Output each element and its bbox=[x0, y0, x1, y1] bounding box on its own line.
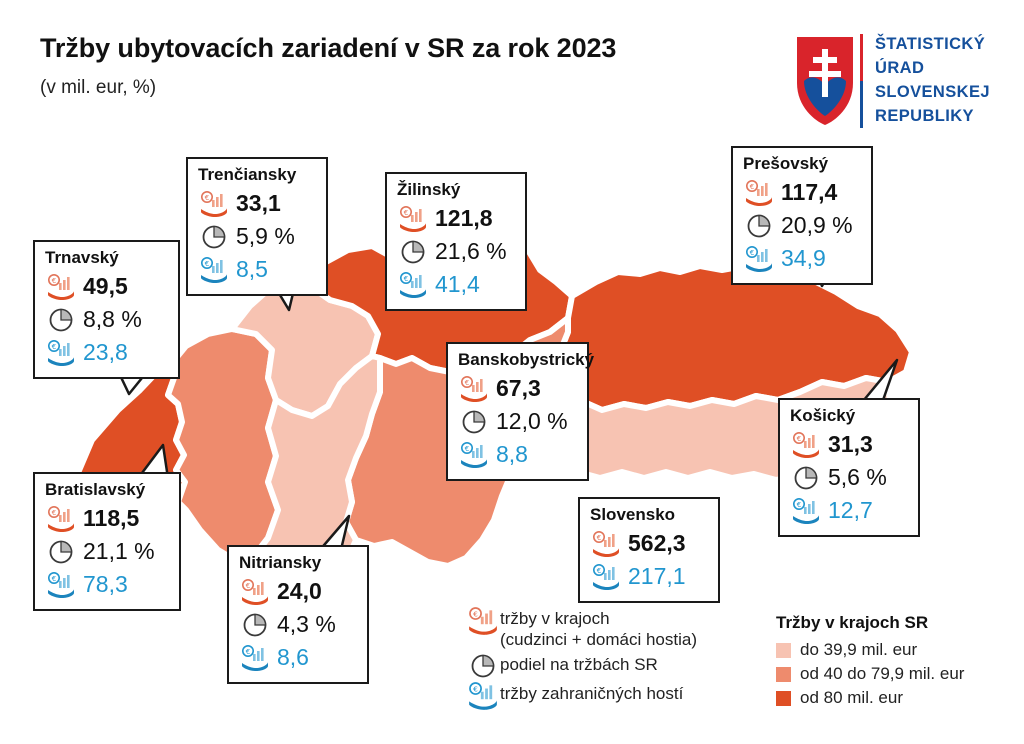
svg-text:€: € bbox=[246, 648, 250, 656]
legend-item-revenue: € tržby v krajoch (cudzinci + domáci hos… bbox=[466, 606, 766, 650]
region-name-kosicky: Košický bbox=[790, 406, 906, 426]
pie-chart-icon bbox=[45, 539, 77, 565]
svg-text:€: € bbox=[597, 534, 601, 542]
region-foreign-bratislavsky: 78,3 bbox=[83, 571, 128, 598]
region-revenue-banskobystricky: 67,3 bbox=[496, 375, 541, 402]
hand-coin-blue-icon: € bbox=[198, 257, 230, 283]
metric-row-share: 5,9 % bbox=[198, 220, 314, 253]
callout-bratislavsky[interactable]: Bratislavský € 118,5 2 bbox=[33, 472, 181, 611]
region-foreign-trenciansky: 8,5 bbox=[236, 256, 268, 283]
hand-coin-blue-icon: € bbox=[458, 442, 490, 468]
metric-row-share: 4,3 % bbox=[239, 608, 355, 641]
hand-coin-blue-icon: € bbox=[590, 564, 622, 590]
region-revenue-kosicky: 31,3 bbox=[828, 431, 873, 458]
legend-label-foreign: tržby zahraničných hostí bbox=[500, 681, 683, 704]
callout-kosicky[interactable]: Košický € 31,3 5,6 % bbox=[778, 398, 920, 537]
region-name-zilinsky: Žilinský bbox=[397, 180, 513, 200]
metric-row-foreign: € 217,1 bbox=[590, 560, 706, 593]
metric-row-foreign: € 41,4 bbox=[397, 268, 513, 301]
legend-item-share: podiel na tržbách SR bbox=[466, 652, 766, 679]
region-foreign-zilinsky: 41,4 bbox=[435, 271, 480, 298]
metric-row-share: 21,6 % bbox=[397, 235, 513, 268]
hand-coin-icon: € bbox=[397, 206, 429, 232]
metric-row-share: 5,6 % bbox=[790, 461, 906, 494]
legend-color-item-mid: od 40 do 79,9 mil. eur bbox=[776, 664, 964, 684]
metric-row-revenue: € 121,8 bbox=[397, 202, 513, 235]
region-name-trenciansky: Trenčiansky bbox=[198, 165, 314, 185]
metric-row-revenue: € 33,1 bbox=[198, 187, 314, 220]
metric-row-foreign: € 8,5 bbox=[198, 253, 314, 286]
svg-text:€: € bbox=[597, 567, 601, 575]
hand-coin-blue-icon: € bbox=[743, 246, 775, 272]
legend-color-label-low: do 39,9 mil. eur bbox=[800, 640, 917, 660]
metric-row-revenue: € 118,5 bbox=[45, 502, 167, 535]
svg-text:€: € bbox=[52, 343, 56, 351]
region-revenue-trenciansky: 33,1 bbox=[236, 190, 281, 217]
hand-coin-icon: € bbox=[743, 180, 775, 206]
metric-row-foreign: € 8,6 bbox=[239, 641, 355, 674]
callout-zilinsky[interactable]: Žilinský € 121,8 21,6 bbox=[385, 172, 527, 311]
callout-nitriansky[interactable]: Nitriansky € 24,0 4,3 bbox=[227, 545, 369, 684]
region-foreign-trnavsky: 23,8 bbox=[83, 339, 128, 366]
hand-coin-icon: € bbox=[466, 606, 500, 635]
hand-coin-icon: € bbox=[458, 376, 490, 402]
logo-line-1: ŠTATISTICKÝ bbox=[875, 32, 990, 56]
region-share-banskobystricky: 12,0 % bbox=[496, 408, 568, 435]
callout-banskobystricky[interactable]: Banskobystrický € 67,3 bbox=[446, 342, 589, 481]
color-swatch-high bbox=[776, 691, 791, 706]
hand-coin-blue-icon: € bbox=[45, 572, 77, 598]
svg-text:€: € bbox=[52, 509, 56, 517]
pie-chart-icon bbox=[458, 409, 490, 435]
svg-text:€: € bbox=[797, 435, 801, 443]
legend-label-revenue-line2: (cudzinci + domáci hostia) bbox=[500, 630, 697, 649]
legend-color-label-mid: od 40 do 79,9 mil. eur bbox=[800, 664, 964, 684]
region-share-bratislavsky: 21,1 % bbox=[83, 538, 155, 565]
region-revenue-presovsky: 117,4 bbox=[781, 179, 837, 206]
hand-coin-blue-icon: € bbox=[45, 340, 77, 366]
hand-coin-blue-icon: € bbox=[466, 681, 500, 710]
legend-color-label-high: od 80 mil. eur bbox=[800, 688, 903, 708]
svg-text:€: € bbox=[205, 194, 209, 202]
metric-row-foreign: € 8,8 bbox=[458, 438, 575, 471]
pie-chart-icon bbox=[397, 239, 429, 265]
region-foreign-banskobystricky: 8,8 bbox=[496, 441, 528, 468]
hand-coin-icon: € bbox=[45, 274, 77, 300]
legend-label-share: podiel na tržbách SR bbox=[500, 652, 658, 675]
color-swatch-low bbox=[776, 643, 791, 658]
legend-label-revenue-line1: tržby v krajoch bbox=[500, 609, 610, 628]
callout-slovensko[interactable]: Slovensko € 562,3 € bbox=[578, 497, 720, 603]
metric-row-share: 12,0 % bbox=[458, 405, 575, 438]
legend-label-revenue: tržby v krajoch (cudzinci + domáci hosti… bbox=[500, 606, 697, 650]
logo-line-2: ÚRAD bbox=[875, 56, 990, 80]
hand-coin-icon: € bbox=[239, 579, 271, 605]
color-swatch-mid bbox=[776, 667, 791, 682]
svg-text:€: € bbox=[465, 379, 469, 387]
svg-text:€: € bbox=[404, 275, 408, 283]
hand-coin-icon: € bbox=[198, 191, 230, 217]
metric-row-revenue: € 24,0 bbox=[239, 575, 355, 608]
legend-icons: € tržby v krajoch (cudzinci + domáci hos… bbox=[466, 606, 766, 712]
region-share-nitriansky: 4,3 % bbox=[277, 611, 336, 638]
hand-coin-blue-icon: € bbox=[397, 272, 429, 298]
legend-item-foreign: € tržby zahraničných hostí bbox=[466, 681, 766, 710]
legend-color-item-high: od 80 mil. eur bbox=[776, 688, 964, 708]
metric-row-revenue: € 49,5 bbox=[45, 270, 166, 303]
svg-text:€: € bbox=[750, 183, 754, 191]
region-name-bratislavsky: Bratislavský bbox=[45, 480, 167, 500]
hand-coin-blue-icon: € bbox=[790, 498, 822, 524]
pie-chart-icon bbox=[466, 652, 500, 679]
metric-row-foreign: € 78,3 bbox=[45, 568, 167, 601]
region-revenue-bratislavsky: 118,5 bbox=[83, 505, 139, 532]
region-revenue-nitriansky: 24,0 bbox=[277, 578, 322, 605]
region-share-presovsky: 20,9 % bbox=[781, 212, 853, 239]
svg-text:€: € bbox=[246, 582, 250, 590]
callout-trenciansky[interactable]: Trenčiansky € 33,1 5,9 bbox=[186, 157, 328, 296]
region-name-nitriansky: Nitriansky bbox=[239, 553, 355, 573]
region-name-slovensko: Slovensko bbox=[590, 505, 706, 525]
region-name-trnavsky: Trnavský bbox=[45, 248, 166, 268]
svg-text:€: € bbox=[473, 610, 478, 619]
hand-coin-blue-icon: € bbox=[239, 645, 271, 671]
page-title: Tržby ubytovacích zariadení v SR za rok … bbox=[40, 33, 616, 64]
metric-row-revenue: € 117,4 bbox=[743, 176, 859, 209]
legend-color-item-low: do 39,9 mil. eur bbox=[776, 640, 964, 660]
region-foreign-nitriansky: 8,6 bbox=[277, 644, 309, 671]
hand-coin-icon: € bbox=[45, 506, 77, 532]
pie-chart-icon bbox=[743, 213, 775, 239]
svg-text:€: € bbox=[797, 501, 801, 509]
region-share-kosicky: 5,6 % bbox=[828, 464, 887, 491]
metric-row-foreign: € 12,7 bbox=[790, 494, 906, 527]
svg-text:€: € bbox=[750, 249, 754, 257]
metric-row-foreign: € 23,8 bbox=[45, 336, 166, 369]
svg-text:€: € bbox=[52, 277, 56, 285]
region-share-trenciansky: 5,9 % bbox=[236, 223, 295, 250]
pie-chart-icon bbox=[790, 465, 822, 491]
region-share-zilinsky: 21,6 % bbox=[435, 238, 507, 265]
region-foreign-kosicky: 12,7 bbox=[828, 497, 873, 524]
metric-row-revenue: € 31,3 bbox=[790, 428, 906, 461]
pie-chart-icon bbox=[198, 224, 230, 250]
pie-chart-icon bbox=[239, 612, 271, 638]
pie-chart-icon bbox=[45, 307, 77, 333]
callout-presovsky[interactable]: Prešovský € 117,4 20,9 bbox=[731, 146, 873, 285]
region-foreign-presovsky: 34,9 bbox=[781, 245, 826, 272]
region-revenue-slovensko: 562,3 bbox=[628, 530, 686, 557]
logo-line-3: SLOVENSKEJ bbox=[875, 80, 990, 104]
infographic-page: Tržby ubytovacích zariadení v SR za rok … bbox=[0, 0, 1024, 744]
region-share-trnavsky: 8,8 % bbox=[83, 306, 142, 333]
svg-text:€: € bbox=[52, 575, 56, 583]
callout-trnavsky[interactable]: Trnavský € 49,5 8,8 % bbox=[33, 240, 180, 379]
svg-text:€: € bbox=[465, 445, 469, 453]
svg-text:€: € bbox=[404, 209, 408, 217]
page-subtitle: (v mil. eur, %) bbox=[40, 77, 156, 99]
svg-text:€: € bbox=[473, 685, 478, 694]
metric-row-foreign: € 34,9 bbox=[743, 242, 859, 275]
region-name-banskobystricky: Banskobystrický bbox=[458, 350, 575, 370]
svg-text:€: € bbox=[205, 260, 209, 268]
region-foreign-slovensko: 217,1 bbox=[628, 563, 686, 590]
legend-colors-title: Tržby v krajoch SR bbox=[776, 613, 964, 633]
hand-coin-icon: € bbox=[590, 531, 622, 557]
metric-row-share: 20,9 % bbox=[743, 209, 859, 242]
hand-coin-icon: € bbox=[790, 432, 822, 458]
metric-row-revenue: € 67,3 bbox=[458, 372, 575, 405]
metric-row-revenue: € 562,3 bbox=[590, 527, 706, 560]
region-name-presovsky: Prešovský bbox=[743, 154, 859, 174]
region-revenue-trnavsky: 49,5 bbox=[83, 273, 128, 300]
region-revenue-zilinsky: 121,8 bbox=[435, 205, 493, 232]
metric-row-share: 21,1 % bbox=[45, 535, 167, 568]
legend-colors: Tržby v krajoch SR do 39,9 mil. eur od 4… bbox=[776, 613, 964, 712]
metric-row-share: 8,8 % bbox=[45, 303, 166, 336]
